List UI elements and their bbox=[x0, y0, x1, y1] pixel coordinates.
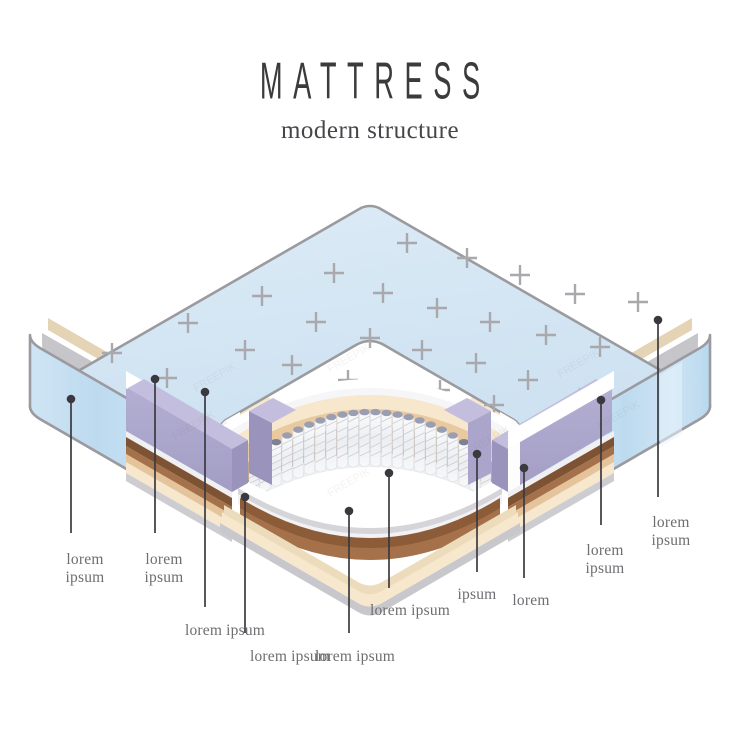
spring-cap bbox=[448, 432, 458, 438]
spring-cap bbox=[348, 410, 358, 416]
spring-coil bbox=[315, 420, 325, 472]
spring-cap bbox=[459, 439, 469, 445]
spring-cap bbox=[359, 409, 369, 415]
spring-cap bbox=[326, 414, 336, 420]
callout-label-2: lorem ipsum bbox=[131, 551, 197, 588]
callout-label-5: lorem ipsum bbox=[305, 648, 405, 666]
leader-dot bbox=[67, 395, 76, 404]
spring-cap bbox=[315, 417, 325, 423]
leader-dot bbox=[385, 469, 394, 478]
lavender-inner-cube-left bbox=[249, 398, 296, 485]
spring-coil bbox=[415, 420, 425, 472]
leader-dot bbox=[241, 493, 250, 502]
callout-label-8: lorem bbox=[505, 592, 557, 610]
spring-cap bbox=[370, 409, 380, 415]
callout-label-7: ipsum bbox=[452, 586, 502, 604]
spring-cap bbox=[393, 411, 403, 417]
callout-label-6: lorem ipsum bbox=[360, 602, 460, 620]
spring-cap bbox=[381, 410, 391, 416]
spring-coil bbox=[437, 430, 447, 478]
spring-cap bbox=[404, 414, 414, 420]
spring-cap bbox=[437, 426, 447, 432]
infographic-canvas: MATTRESS modern structure bbox=[0, 0, 740, 740]
callout-label-9: lorem ipsum bbox=[572, 542, 638, 579]
leader-dot bbox=[151, 375, 160, 384]
spring-cap bbox=[415, 417, 425, 423]
leader-dot bbox=[345, 507, 354, 516]
callout-label-1: lorem ipsum bbox=[52, 551, 118, 588]
leader-dot bbox=[520, 464, 529, 473]
mattress-illustration: FREEPIK FREEPIK FREEPIK FREEPIK FREEPIK … bbox=[0, 0, 740, 740]
callout-label-3: lorem ipsum bbox=[175, 622, 275, 640]
callout-label-10: lorem ipsum bbox=[638, 514, 704, 551]
spring-cap bbox=[426, 421, 436, 427]
spring-coil bbox=[426, 425, 436, 475]
leader-dot bbox=[654, 316, 663, 325]
spring-cap bbox=[304, 421, 314, 427]
leader-dot bbox=[597, 396, 606, 405]
spring-coil bbox=[304, 425, 314, 475]
spring-cap bbox=[337, 411, 347, 417]
